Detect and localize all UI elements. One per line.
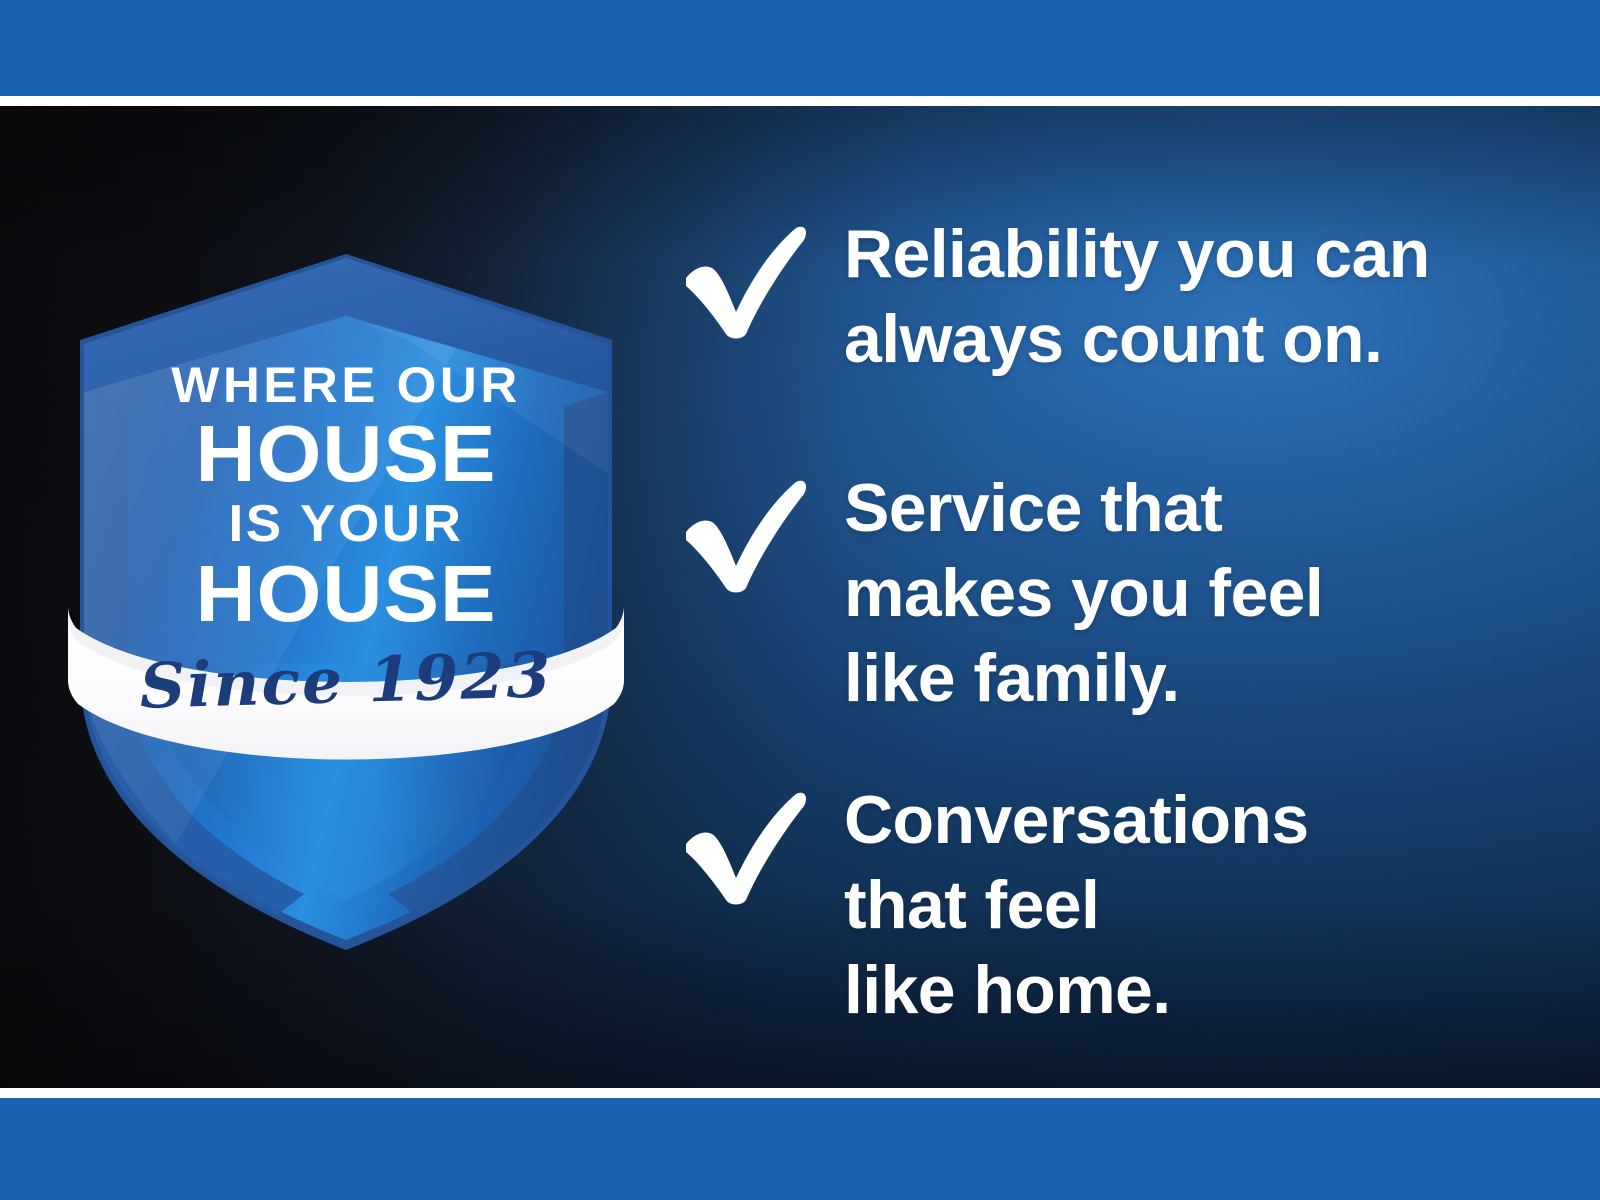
benefit-item-1: Reliability you can always count on. [672, 212, 1532, 382]
bottom-brand-bar [0, 1098, 1600, 1200]
benefit-text-2: Service that makes you feel like family. [844, 466, 1532, 721]
company-shield-badge: Where Our House Is Your House Since 1923 [56, 144, 636, 944]
checkmark-icon [672, 212, 844, 342]
benefit-text-1: Reliability you can always count on. [844, 212, 1532, 382]
shield-graphic [56, 144, 636, 944]
checkmark-glyph [672, 220, 812, 342]
benefits-list: Reliability you can always count on. Ser… [672, 106, 1532, 1088]
checkmark-icon [672, 466, 844, 596]
benefit-item-3: Conversations that feel like home. [672, 778, 1532, 1033]
checkmark-icon [672, 778, 844, 908]
benefit-item-2: Service that makes you feel like family. [672, 466, 1532, 721]
top-brand-bar [0, 0, 1600, 96]
checkmark-glyph [672, 786, 812, 908]
checkmark-glyph [672, 474, 812, 596]
benefit-text-3: Conversations that feel like home. [844, 778, 1532, 1033]
promo-poster: Where Our House Is Your House Since 1923… [0, 0, 1600, 1200]
